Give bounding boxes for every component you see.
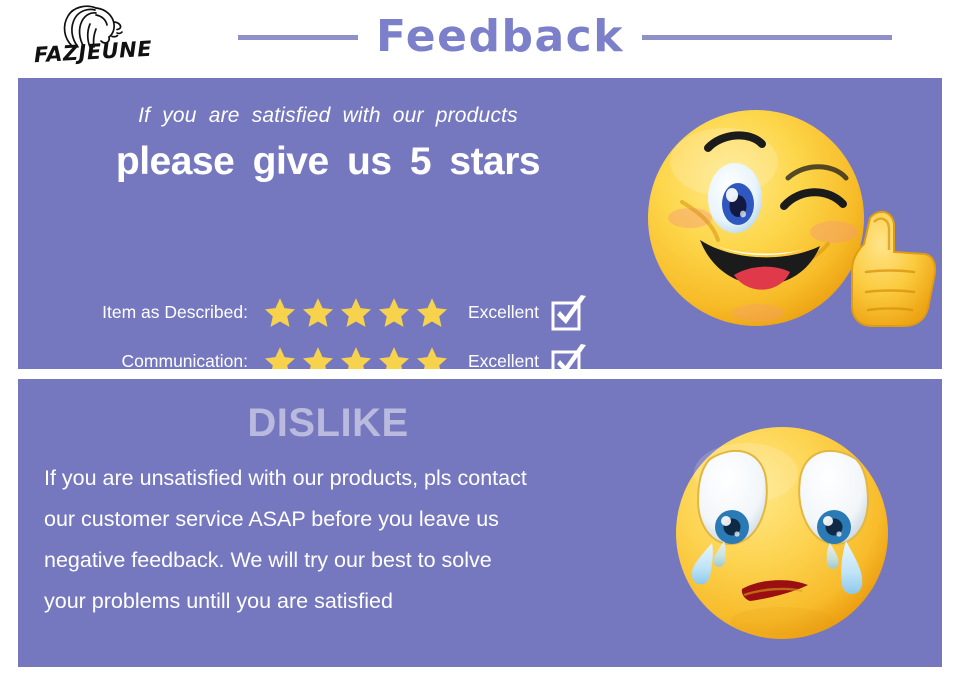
negative-copy-line: your problems untill you are satisfied <box>44 587 644 616</box>
negative-copy-line: our customer service ASAP before you lea… <box>44 505 644 534</box>
title-row: Feedback <box>180 6 950 68</box>
rating-label: Item as Described: <box>48 302 262 323</box>
star-rating-5 <box>262 345 452 370</box>
star-icon <box>300 345 336 370</box>
page-title: Feedback <box>376 15 624 59</box>
positive-headline: please give us 5 stars <box>18 140 638 184</box>
star-icon <box>262 296 298 330</box>
negative-feedback-panel: DISLIKE If you are unsatisfied with our … <box>18 379 942 667</box>
star-icon <box>414 345 450 370</box>
negative-copy: If you are unsatisfied with our products… <box>44 464 644 628</box>
rating-value: Excellent <box>452 302 539 323</box>
negative-copy-line: If you are unsatisfied with our products… <box>44 464 644 493</box>
star-icon <box>338 345 374 370</box>
star-icon <box>262 345 298 370</box>
rating-value: Excellent <box>452 351 539 369</box>
negative-copy-line: negative feedback. We will try our best … <box>44 546 644 575</box>
rating-row: Communication: Excellent <box>48 337 618 369</box>
positive-copy: If you are satisfied with our products p… <box>18 78 638 184</box>
positive-intro-line: If you are satisfied with our products <box>18 104 638 128</box>
title-rule-left <box>238 35 358 40</box>
star-icon <box>376 296 412 330</box>
page-header: FAZJEUNE Feedback <box>0 0 960 78</box>
title-rule-right <box>642 35 892 40</box>
dislike-heading: DISLIKE <box>18 401 638 446</box>
star-icon <box>300 296 336 330</box>
star-icon <box>338 296 374 330</box>
checkbox-checked-icon[interactable] <box>549 343 589 370</box>
rating-row: Item as Described: Excellent <box>48 288 618 337</box>
star-rating-5 <box>262 296 452 330</box>
winking-smiley-thumbs-up-icon <box>638 100 938 350</box>
rating-label: Communication: <box>48 351 262 369</box>
star-icon <box>376 345 412 370</box>
rating-rows: Item as Described: Excellent Communicati… <box>48 288 618 369</box>
crying-sad-face-icon <box>650 421 920 646</box>
positive-feedback-panel: If you are satisfied with our products p… <box>18 78 942 369</box>
checkbox-checked-icon[interactable] <box>549 294 589 332</box>
star-icon <box>414 296 450 330</box>
